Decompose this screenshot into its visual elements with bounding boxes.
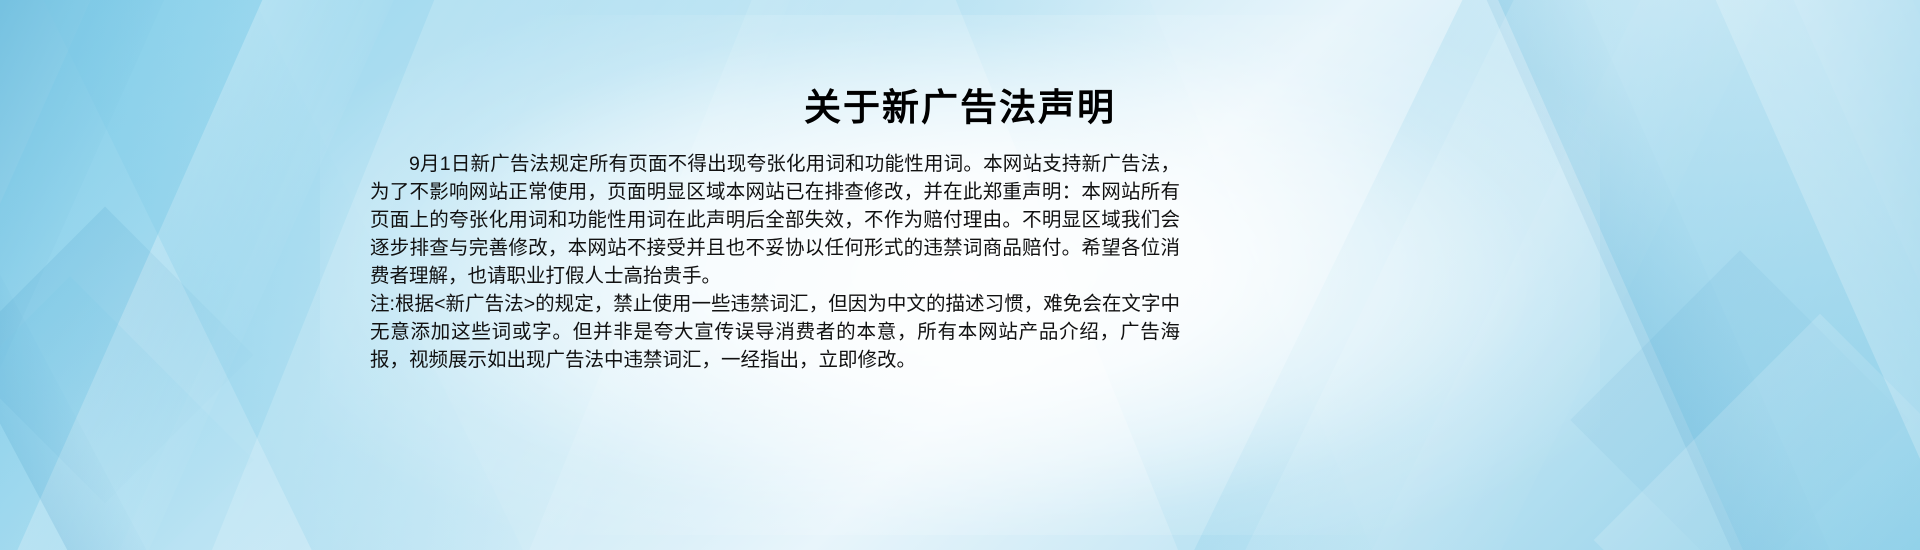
statement-main-paragraph: 9月1日新广告法规定所有页面不得出现夸张化用词和功能性用词。本网站支持新广告法，… xyxy=(370,150,1180,290)
advertising-law-statement-banner: 关于新广告法声明 9月1日新广告法规定所有页面不得出现夸张化用词和功能性用词。本… xyxy=(0,0,1920,550)
page-title: 关于新广告法声明 xyxy=(0,86,1920,130)
statement-content: 关于新广告法声明 9月1日新广告法规定所有页面不得出现夸张化用词和功能性用词。本… xyxy=(0,0,1920,550)
statement-body: 9月1日新广告法规定所有页面不得出现夸张化用词和功能性用词。本网站支持新广告法，… xyxy=(370,150,1180,374)
statement-note-paragraph: 注:根据<新广告法>的规定，禁止使用一些违禁词汇，但因为中文的描述习惯，难免会在… xyxy=(370,290,1180,374)
